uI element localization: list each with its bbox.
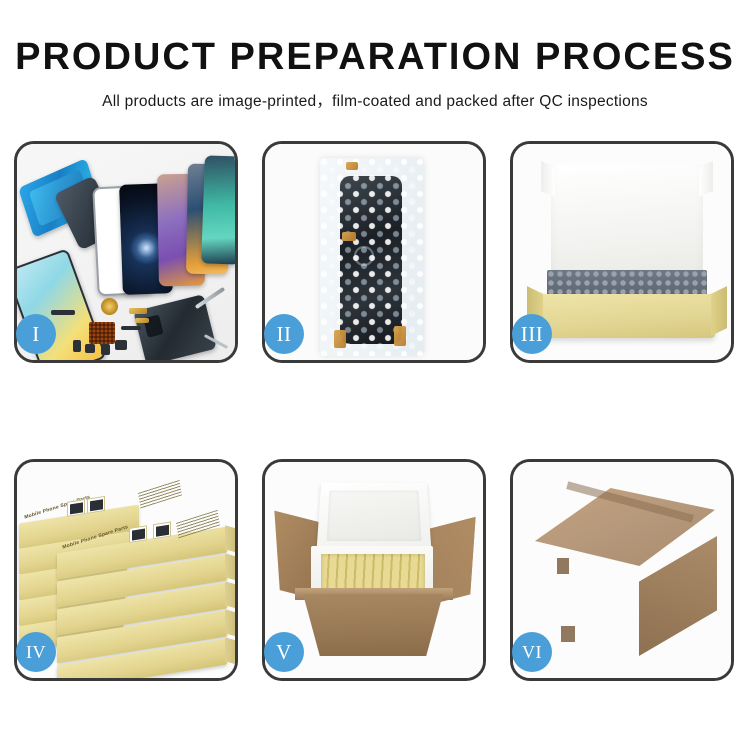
phone-display-teal (201, 155, 235, 264)
process-step-3: III (510, 141, 734, 363)
carton-tab (561, 626, 575, 642)
ribbon-cable-part (121, 326, 141, 330)
tape-strip (394, 326, 406, 346)
process-step-grid: I II III (14, 141, 738, 681)
page-subtitle: All products are image-printed，film-coat… (0, 89, 750, 111)
process-step-4: Mobile Phone Spare Parts (14, 459, 238, 681)
carton-body (303, 594, 443, 656)
process-step-2: II (262, 141, 486, 363)
carton-front-face (535, 552, 641, 656)
flex-cable-part (135, 318, 149, 323)
step-badge-3: III (512, 314, 552, 354)
process-step-5: V (262, 459, 486, 681)
header: PRODUCT PREPARATION PROCESS All products… (0, 0, 750, 111)
small-chip-part (115, 340, 127, 350)
page-title: PRODUCT PREPARATION PROCESS (0, 38, 750, 76)
bubble-texture (320, 158, 424, 356)
bubble-wrap-bag (320, 158, 424, 356)
small-chip-part (85, 344, 95, 353)
step-badge-4: IV (16, 632, 56, 672)
step-badge-6: VI (512, 632, 552, 672)
tape-strip (342, 232, 356, 241)
tape-strip (334, 330, 346, 348)
box-lid-white (551, 164, 703, 282)
small-chip-part (73, 340, 81, 352)
step-badge-1: I (16, 314, 56, 354)
process-step-1: I (14, 141, 238, 363)
process-step-6: VI (510, 459, 734, 681)
carton-tab (557, 558, 569, 574)
small-chip-part (101, 344, 110, 355)
flex-cable-part (129, 308, 147, 314)
step-badge-5: V (264, 632, 304, 672)
styrofoam-lid (317, 482, 432, 550)
connector-strip-part (51, 310, 75, 315)
kraft-box-body (539, 294, 715, 338)
tape-strip (346, 162, 358, 170)
speaker-coil-part (101, 298, 118, 315)
step-badge-2: II (264, 314, 304, 354)
product-preparation-infographic: PRODUCT PREPARATION PROCESS All products… (0, 0, 750, 750)
copper-mesh-part (89, 322, 115, 344)
